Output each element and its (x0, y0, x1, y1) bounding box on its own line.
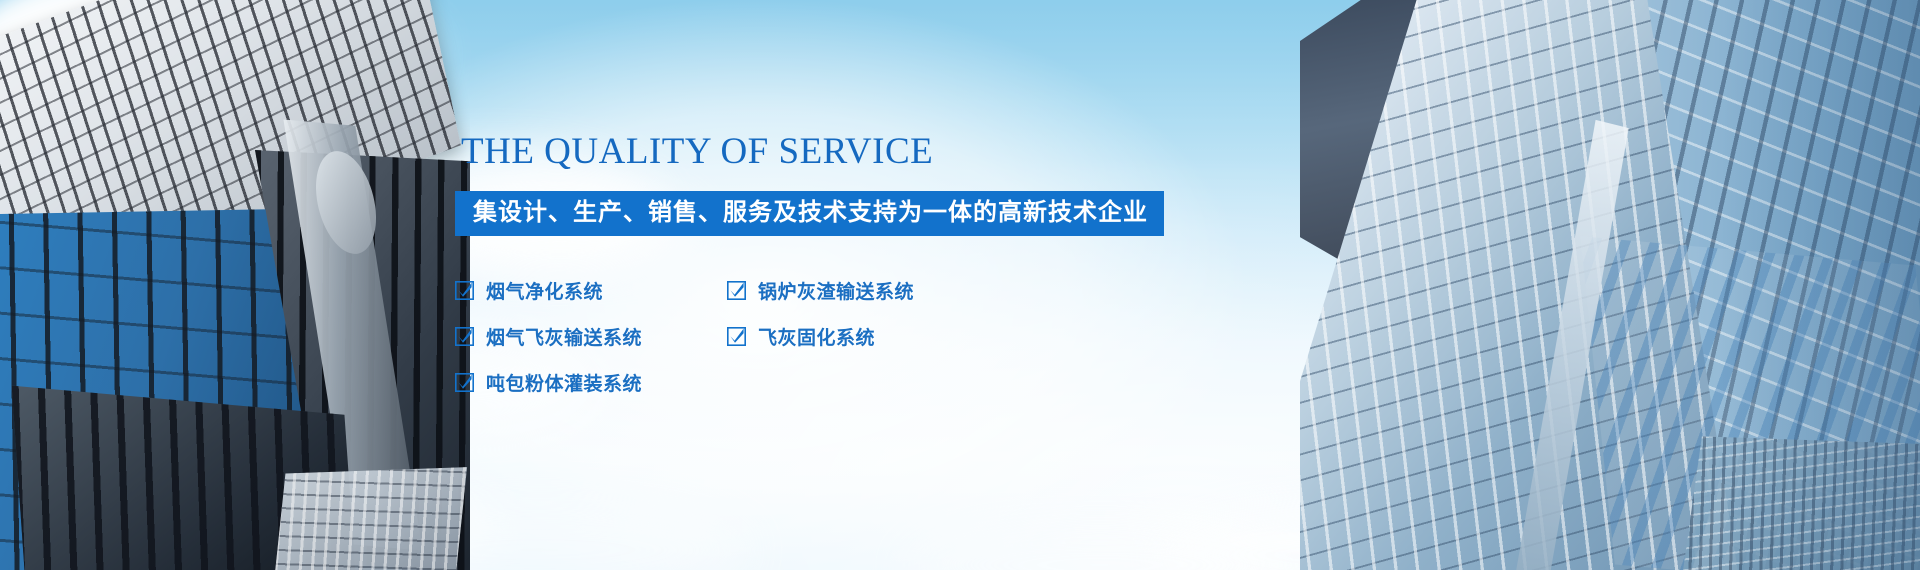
hero-banner: THE QUALITY OF SERVICE 集设计、生产、销售、服务及技术支持… (0, 0, 1920, 570)
banner-content: THE QUALITY OF SERVICE 集设计、生产、销售、服务及技术支持… (455, 130, 1215, 404)
subtitle-bar: 集设计、生产、销售、服务及技术支持为一体的高新技术企业 (455, 191, 1164, 236)
list-item: 锅炉灰渣输送系统 (727, 277, 1215, 304)
checkbox-checked-icon (727, 281, 746, 300)
page-title: THE QUALITY OF SERVICE (461, 130, 1215, 173)
list-item-label: 锅炉灰渣输送系统 (758, 277, 914, 304)
background-building (273, 467, 467, 570)
list-item: 烟气净化系统 (455, 277, 727, 304)
checkbox-checked-icon (455, 281, 474, 300)
list-item: 飞灰固化系统 (727, 323, 1215, 350)
list-item-label: 烟气飞灰输送系统 (486, 323, 642, 350)
list-item-label: 烟气净化系统 (486, 277, 603, 304)
list-item-label: 吨包粉体灌装系统 (486, 369, 642, 396)
list-item-label: 飞灰固化系统 (758, 323, 875, 350)
checkbox-checked-icon (455, 373, 474, 392)
list-item: 吨包粉体灌装系统 (455, 369, 727, 396)
right-building-image (1300, 0, 1920, 570)
list-item: 烟气飞灰输送系统 (455, 323, 727, 350)
left-building-image (0, 0, 470, 570)
checkbox-checked-icon (455, 327, 474, 346)
feature-list: 烟气净化系统 锅炉灰渣输送系统 烟气飞灰输送 (455, 268, 1215, 404)
checkbox-checked-icon (727, 327, 746, 346)
building-base (1677, 436, 1920, 570)
